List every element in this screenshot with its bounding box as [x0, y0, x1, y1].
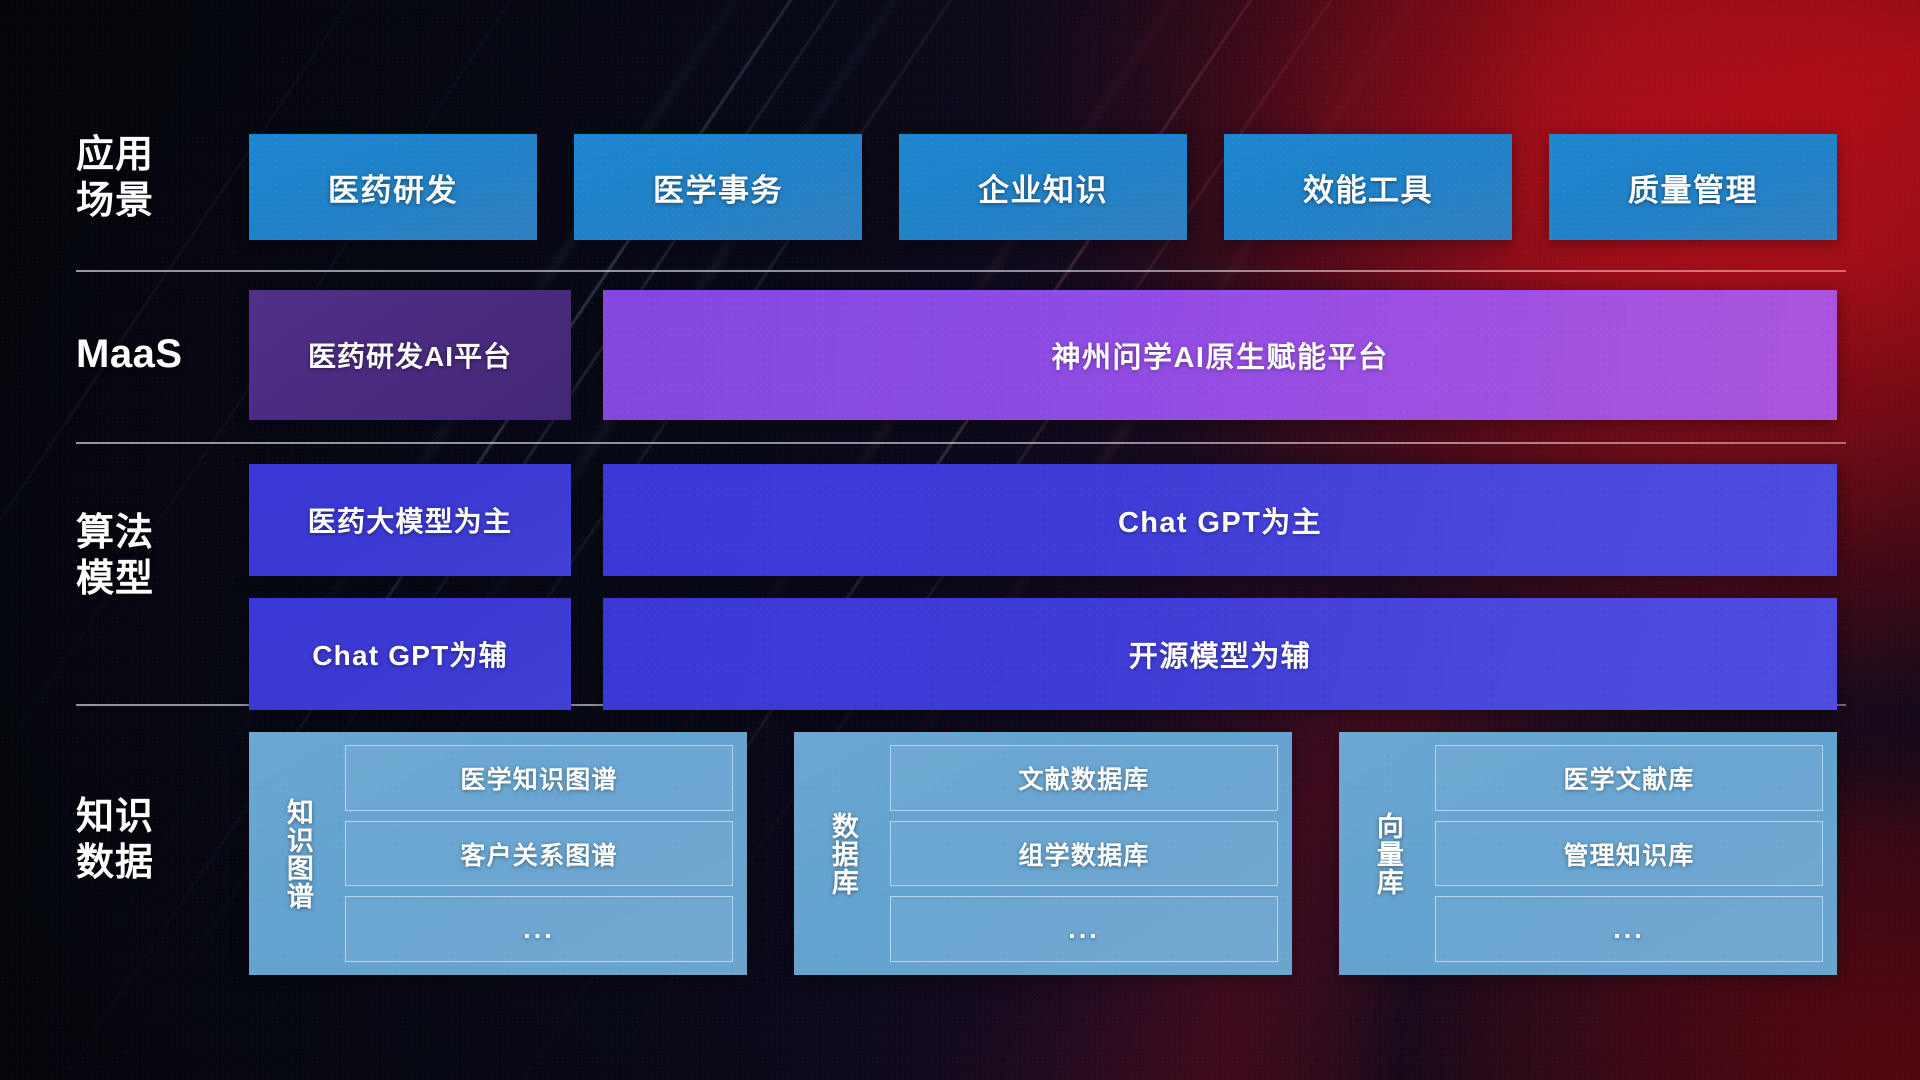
application-card-3[interactable]: 企业知识 — [899, 134, 1187, 240]
algorithm-card-block: 医药大模型为主 Chat GPT为主 Chat GPT为辅 开源模型为辅 — [249, 464, 1837, 732]
knowledge-group-database[interactable]: 数据库 文献数据库 组学数据库 ... — [794, 732, 1292, 975]
row-label-algorithm-line1: 算法 — [76, 510, 236, 556]
knowledge-item-database-1[interactable]: 文献数据库 — [890, 745, 1278, 811]
knowledge-group-vector-title-text: 向量库 — [1371, 812, 1403, 896]
row-label-algorithm-line2: 模型 — [76, 556, 236, 602]
application-card-4[interactable]: 效能工具 — [1224, 134, 1512, 240]
row-label-maas-line1: MaaS — [76, 330, 236, 379]
knowledge-group-row: 知识图谱 医学知识图谱 客户关系图谱 ... 数据库 文献数据库 组学数据库 .… — [249, 732, 1837, 975]
knowledge-group-graph-items: 医学知识图谱 客户关系图谱 ... — [333, 745, 733, 962]
knowledge-item-vector-2[interactable]: 管理知识库 — [1435, 821, 1823, 887]
row-label-knowledge-line2: 数据 — [76, 840, 236, 886]
row-label-application: 应用 场景 — [76, 132, 236, 225]
algorithm-card-secondary-left[interactable]: Chat GPT为辅 — [249, 598, 571, 710]
row-label-knowledge-line1: 知识 — [76, 794, 236, 840]
maas-card-row: 医药研发AI平台 神州问学AI原生赋能平台 — [249, 290, 1837, 420]
knowledge-group-vector[interactable]: 向量库 医学文献库 管理知识库 ... — [1339, 732, 1837, 975]
knowledge-group-database-title: 数据库 — [806, 745, 878, 962]
knowledge-group-database-items: 文献数据库 组学数据库 ... — [878, 745, 1278, 962]
algorithm-row-primary: 医药大模型为主 Chat GPT为主 — [249, 464, 1837, 576]
diagram-canvas: 应用 场景 医药研发 医学事务 企业知识 效能工具 质量管理 MaaS 医药研发… — [0, 0, 1920, 1080]
divider-application-maas — [76, 270, 1846, 272]
knowledge-group-vector-title: 向量库 — [1351, 745, 1423, 962]
algorithm-card-secondary-right[interactable]: 开源模型为辅 — [603, 598, 1837, 710]
application-card-2[interactable]: 医学事务 — [574, 134, 862, 240]
algorithm-row-secondary: Chat GPT为辅 开源模型为辅 — [249, 598, 1837, 710]
maas-card-pharma-platform[interactable]: 医药研发AI平台 — [249, 290, 571, 420]
knowledge-item-vector-1[interactable]: 医学文献库 — [1435, 745, 1823, 811]
knowledge-group-database-title-text: 数据库 — [826, 812, 858, 896]
application-card-row: 医药研发 医学事务 企业知识 效能工具 质量管理 — [249, 134, 1837, 240]
knowledge-item-database-more[interactable]: ... — [890, 896, 1278, 962]
knowledge-item-graph-more[interactable]: ... — [345, 896, 733, 962]
application-card-1[interactable]: 医药研发 — [249, 134, 537, 240]
row-label-maas: MaaS — [76, 330, 236, 379]
knowledge-group-graph[interactable]: 知识图谱 医学知识图谱 客户关系图谱 ... — [249, 732, 747, 975]
knowledge-item-database-2[interactable]: 组学数据库 — [890, 821, 1278, 887]
knowledge-item-vector-more[interactable]: ... — [1435, 896, 1823, 962]
knowledge-group-vector-items: 医学文献库 管理知识库 ... — [1423, 745, 1823, 962]
knowledge-group-graph-title-text: 知识图谱 — [281, 798, 313, 910]
application-card-5[interactable]: 质量管理 — [1549, 134, 1837, 240]
knowledge-item-graph-2[interactable]: 客户关系图谱 — [345, 821, 733, 887]
algorithm-card-primary-left[interactable]: 医药大模型为主 — [249, 464, 571, 576]
algorithm-card-primary-right[interactable]: Chat GPT为主 — [603, 464, 1837, 576]
knowledge-group-graph-title: 知识图谱 — [261, 745, 333, 962]
row-label-application-line1: 应用 — [76, 132, 236, 178]
maas-card-native-platform[interactable]: 神州问学AI原生赋能平台 — [603, 290, 1837, 420]
row-label-knowledge: 知识 数据 — [76, 794, 236, 887]
knowledge-item-graph-1[interactable]: 医学知识图谱 — [345, 745, 733, 811]
row-label-application-line2: 场景 — [76, 178, 236, 224]
divider-maas-algorithm — [76, 442, 1846, 444]
row-label-algorithm: 算法 模型 — [76, 510, 236, 603]
